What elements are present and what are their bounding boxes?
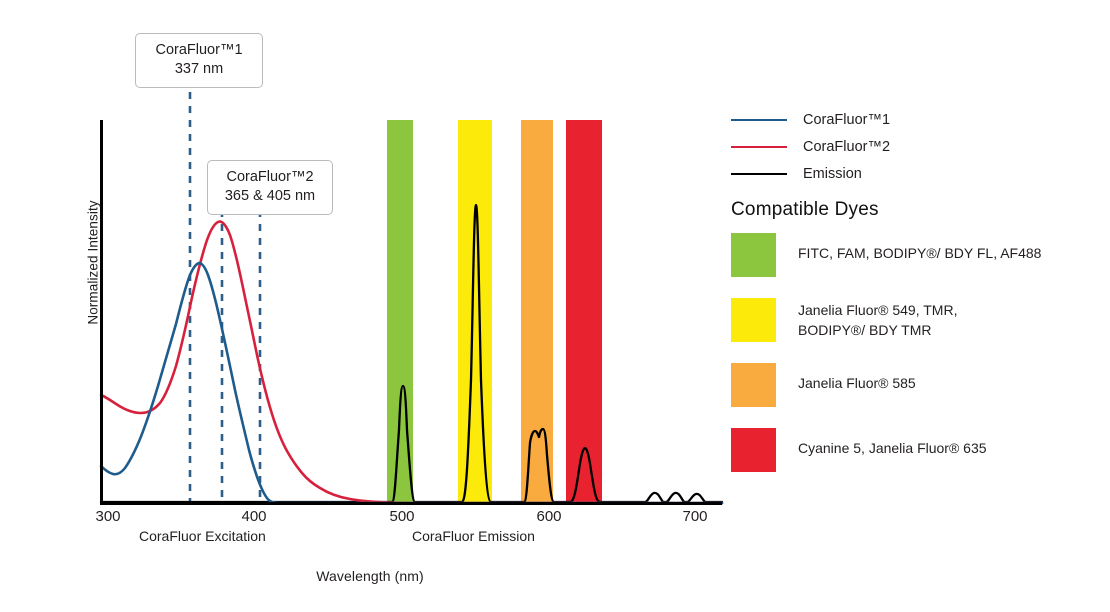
tick-label-700: 700 <box>665 508 725 525</box>
callout-corafluor2: CoraFluor™2 365 & 405 nm <box>207 160 333 215</box>
band-orange <box>521 120 553 503</box>
dye-row-fitc: FITC, FAM, BODIPY®/ BDY FL, AF488 <box>731 233 1110 277</box>
dye-label-cyanine5: Cyanine 5, Janelia Fluor® 635 <box>798 428 987 458</box>
compatible-dyes-heading: Compatible Dyes <box>731 199 879 221</box>
dye-row-janelia549: Janelia Fluor® 549, TMR, BODIPY®/ BDY TM… <box>731 298 1110 342</box>
dye-label-fitc-line1: FITC, FAM, BODIPY®/ BDY FL, AF488 <box>798 243 1041 263</box>
dye-label-janelia549-line2: BODIPY®/ BDY TMR <box>798 320 957 340</box>
legend-label-corafluor1: CoraFluor™1 <box>803 112 890 128</box>
tick-label-600: 600 <box>519 508 579 525</box>
callout-corafluor2-line1: CoraFluor™2 <box>220 168 320 187</box>
legend-line-swatch-corafluor1 <box>731 119 787 121</box>
legend-label-emission: Emission <box>803 166 862 182</box>
range-label-excitation: CoraFluor Excitation <box>139 528 266 544</box>
band-yellow <box>458 120 492 503</box>
dye-swatch-yellow <box>731 298 776 342</box>
chart-area: Normalized Intensity Wavelength (nm) 300… <box>0 0 740 612</box>
series-legend: CoraFluor™1 CoraFluor™2 Emission <box>731 106 1110 187</box>
dye-label-janelia585-line1: Janelia Fluor® 585 <box>798 373 916 393</box>
dye-label-cyanine5-line1: Cyanine 5, Janelia Fluor® 635 <box>798 438 987 458</box>
compatible-dyes-list: FITC, FAM, BODIPY®/ BDY FL, AF488 Janeli… <box>731 233 1110 493</box>
dye-row-cyanine5: Cyanine 5, Janelia Fluor® 635 <box>731 428 1110 472</box>
legend-line-swatch-corafluor2 <box>731 146 787 148</box>
dye-label-fitc: FITC, FAM, BODIPY®/ BDY FL, AF488 <box>798 233 1041 263</box>
callout-corafluor2-line2: 365 & 405 nm <box>220 187 320 206</box>
dye-swatch-red <box>731 428 776 472</box>
legend-label-corafluor2: CoraFluor™2 <box>803 139 890 155</box>
callout-corafluor1: CoraFluor™1 337 nm <box>135 33 263 88</box>
callout-corafluor1-line2: 337 nm <box>148 60 250 79</box>
excitation-marker-lines <box>190 92 260 503</box>
dye-swatch-green <box>731 233 776 277</box>
legend-item-corafluor2: CoraFluor™2 <box>731 133 1110 160</box>
callout-corafluor1-line1: CoraFluor™1 <box>148 41 250 60</box>
tick-label-300: 300 <box>78 508 138 525</box>
range-label-emission: CoraFluor Emission <box>412 528 535 544</box>
dye-label-janelia549-line1: Janelia Fluor® 549, TMR, <box>798 300 957 320</box>
legend-line-swatch-emission <box>731 173 787 175</box>
dye-label-janelia549: Janelia Fluor® 549, TMR, BODIPY®/ BDY TM… <box>798 298 957 341</box>
band-red <box>566 120 602 503</box>
legend-item-corafluor1: CoraFluor™1 <box>731 106 1110 133</box>
y-axis-title: Normalized Intensity <box>86 163 101 363</box>
dye-bands <box>387 120 602 503</box>
dye-swatch-orange <box>731 363 776 407</box>
dye-row-janelia585: Janelia Fluor® 585 <box>731 363 1110 407</box>
legend-item-emission: Emission <box>731 160 1110 187</box>
dye-label-janelia585: Janelia Fluor® 585 <box>798 363 916 393</box>
tick-label-500: 500 <box>372 508 432 525</box>
figure-root: Normalized Intensity Wavelength (nm) 300… <box>0 0 1110 612</box>
x-axis-title: Wavelength (nm) <box>0 568 740 584</box>
tick-label-400: 400 <box>224 508 284 525</box>
